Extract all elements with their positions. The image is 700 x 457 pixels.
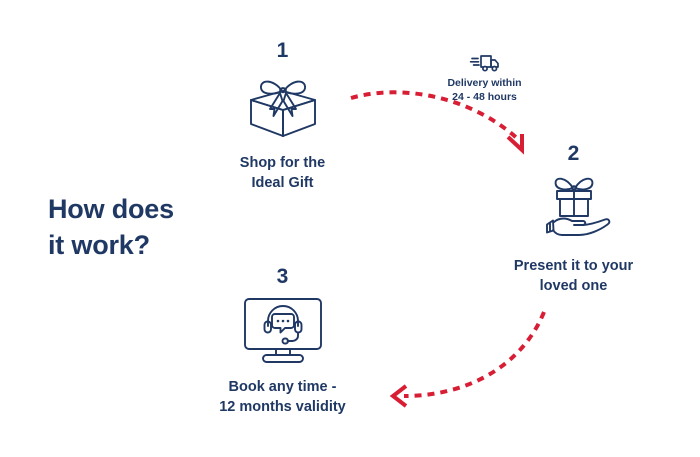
step-2-number: 2 bbox=[492, 143, 655, 164]
step-2-caption-line-1: Present it to your bbox=[492, 256, 655, 276]
step-1: 1 S bbox=[201, 40, 364, 193]
arrow-step2-to-step3 bbox=[393, 312, 544, 406]
page-title-line-2: it work? bbox=[48, 228, 238, 264]
how-it-works-infographic: How does it work? De bbox=[0, 0, 700, 457]
step-2-caption: Present it to your loved one bbox=[492, 256, 655, 296]
delivery-note-line-1: Delivery within bbox=[428, 77, 541, 91]
delivery-note-line-2: 24 - 48 hours bbox=[428, 91, 541, 105]
monitor-support-chat-icon bbox=[237, 293, 329, 367]
delivery-note-text: Delivery within 24 - 48 hours bbox=[428, 77, 541, 105]
step-2-caption-line-2: loved one bbox=[492, 276, 655, 296]
delivery-note: Delivery within 24 - 48 hours bbox=[428, 52, 541, 105]
step-3-caption: Book any time - 12 months validity bbox=[201, 377, 364, 417]
step-3: 3 bbox=[201, 266, 364, 417]
page-title-line-1: How does bbox=[48, 192, 238, 228]
step-3-caption-line-1: Book any time - bbox=[201, 377, 364, 397]
step-3-number: 3 bbox=[201, 266, 364, 287]
step-1-caption-line-1: Shop for the bbox=[201, 153, 364, 173]
gift-on-hand-icon bbox=[531, 170, 617, 246]
gift-box-icon bbox=[244, 67, 322, 143]
step-1-caption: Shop for the Ideal Gift bbox=[201, 153, 364, 193]
step-1-caption-line-2: Ideal Gift bbox=[201, 173, 364, 193]
step-2: 2 Present it bbox=[492, 143, 655, 296]
page-title: How does it work? bbox=[48, 192, 238, 263]
step-1-number: 1 bbox=[201, 40, 364, 61]
delivery-truck-icon bbox=[469, 52, 501, 74]
step-3-caption-line-2: 12 months validity bbox=[201, 397, 364, 417]
